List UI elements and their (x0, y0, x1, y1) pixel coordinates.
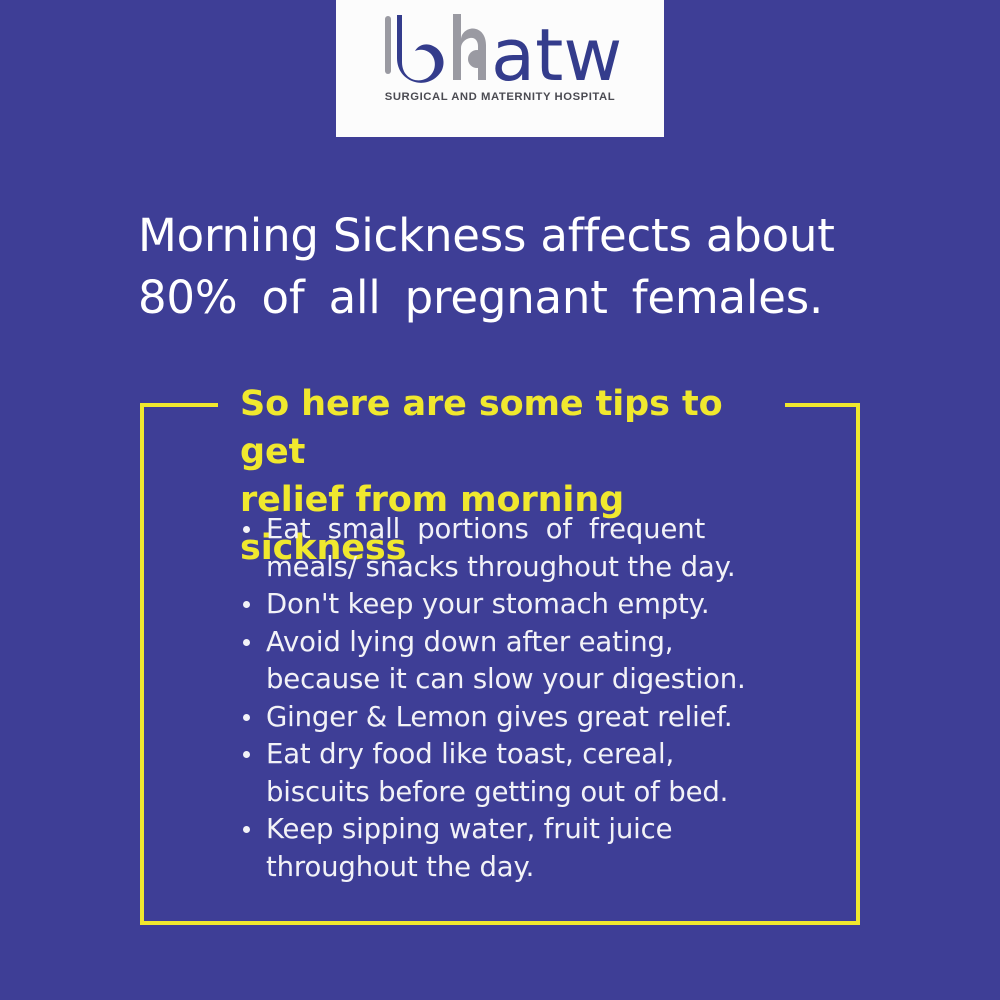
tip-line: Avoid lying down after eating, (266, 624, 770, 662)
tip-item: Keep sipping water, fruit juicethroughou… (240, 811, 770, 886)
bullet-dot-icon (243, 526, 250, 533)
bullet-dot-icon (243, 714, 250, 721)
headline: Morning Sickness affects about 80% of al… (138, 205, 878, 329)
frame-border-top-right (785, 403, 860, 407)
subheading-line-1: So here are some tips to get (240, 380, 780, 476)
frame-border-right (856, 403, 860, 925)
svg-text:atwal: atwal (491, 13, 625, 88)
tip-line: meals/ snacks throughout the day. (266, 549, 770, 587)
tip-line: Eat small portions of frequent (266, 511, 770, 549)
logo-tagline: SURGICAL AND MATERNITY HOSPITAL (385, 91, 615, 103)
frame-border-left (140, 403, 144, 925)
tip-item: Eat dry food like toast, cereal,biscuits… (240, 736, 770, 811)
bullet-dot-icon (243, 639, 250, 646)
tip-line: Keep sipping water, fruit juice (266, 811, 770, 849)
frame-border-bottom (140, 921, 860, 925)
tip-line: because it can slow your digestion. (266, 661, 770, 699)
headline-line-2: 80% of all pregnant females. (138, 267, 878, 329)
bullet-dot-icon (243, 601, 250, 608)
bullet-dot-icon (243, 751, 250, 758)
frame-border-top-left (140, 403, 218, 407)
poster-canvas: atwal SURGICAL AND MATERNITY HOSPITAL Mo… (0, 0, 1000, 1000)
tip-line: Ginger & Lemon gives great relief. (266, 699, 770, 737)
bhatwal-wordmark-icon: atwal (375, 10, 625, 88)
tip-item: Ginger & Lemon gives great relief. (240, 699, 770, 737)
tip-item: Avoid lying down after eating,because it… (240, 624, 770, 699)
hospital-logo-card: atwal SURGICAL AND MATERNITY HOSPITAL (336, 0, 664, 137)
tip-line: throughout the day. (266, 849, 770, 887)
tip-line: biscuits before getting out of bed. (266, 774, 770, 812)
tip-line: Don't keep your stomach empty. (266, 586, 770, 624)
tip-item: Eat small portions of frequentmeals/ sna… (240, 511, 770, 586)
headline-line-1: Morning Sickness affects about (138, 205, 878, 267)
bullet-dot-icon (243, 826, 250, 833)
tips-list: Eat small portions of frequentmeals/ sna… (240, 511, 770, 886)
tip-item: Don't keep your stomach empty. (240, 586, 770, 624)
tip-line: Eat dry food like toast, cereal, (266, 736, 770, 774)
